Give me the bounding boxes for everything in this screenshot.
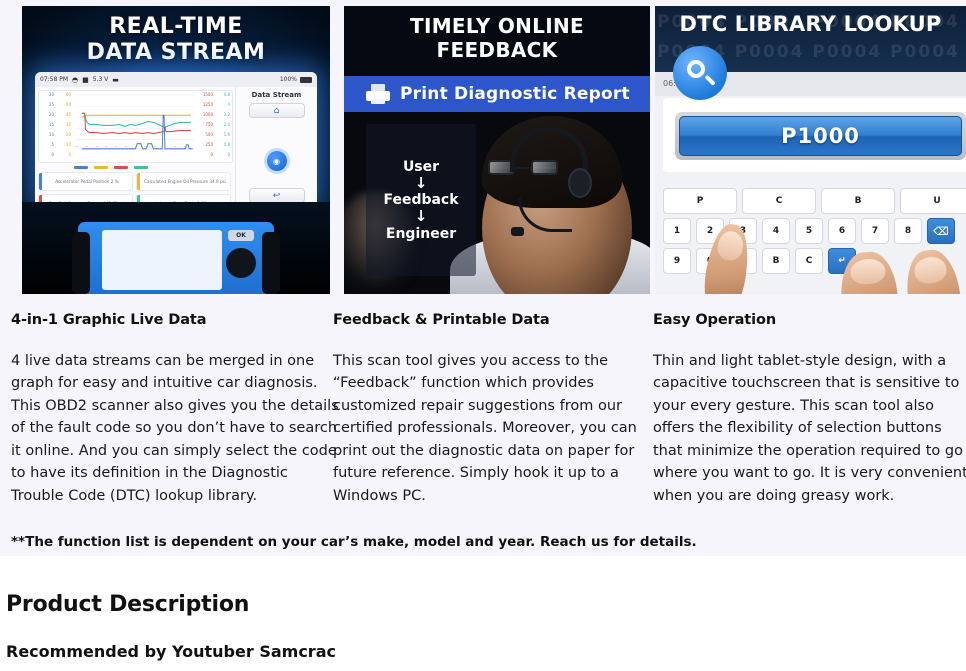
search-icon: [673, 46, 727, 100]
legend-swatch-2: [94, 166, 108, 169]
keyboard-row-digits-1: 1 2 3 4 5 6 7 8 ⌫: [663, 218, 966, 244]
feature-column-2: Feedback & Printable Data This scan tool…: [333, 312, 651, 507]
feature-image-panels: REAL-TIME DATA STREAM 07:58 PM ◓ ■ 5.3 V…: [12, 6, 966, 294]
key-1[interactable]: 1: [663, 218, 691, 244]
device-grip-right: [262, 232, 280, 294]
panel-2-title-line-1: TIMELY ONLINE: [344, 14, 650, 38]
product-description-subtitle: Recommended by Youtuber Samcrac: [6, 642, 336, 661]
device-ok-button[interactable]: OK: [228, 230, 254, 241]
feedback-flow-diagram: User ↓ Feedback ↓ Engineer: [366, 124, 476, 276]
support-agent-photo: User ↓ Feedback ↓ Engineer: [344, 112, 650, 294]
status-battery-percent: 100%: [280, 76, 297, 83]
tablet-chart-area: 30 25 20 15 10 5 0 60 50 4: [35, 87, 235, 207]
scanner-device-photo: OK: [22, 202, 330, 294]
feature-body-1: 4 live data streams can be merged in one…: [11, 350, 341, 507]
link-icon: ▬: [112, 76, 119, 84]
legend-swatch-1: [74, 166, 88, 169]
key-C[interactable]: C: [742, 188, 816, 214]
data-stream-title: Data Stream: [236, 91, 317, 99]
dtc-code-frame: P1000: [675, 112, 966, 160]
key-4[interactable]: 4: [762, 218, 790, 244]
keyboard-row-prefix: P C B U: [663, 188, 966, 214]
panel-1-title-line-1: REAL-TIME: [22, 14, 330, 40]
data-card[interactable]: Calculated Engine Oil Pressure 34.9 psi: [136, 172, 231, 191]
dtc-code-button[interactable]: P1000: [679, 116, 962, 156]
data-card-label: Accelerator Pedal Position 2 %: [42, 179, 132, 184]
feature-column-1: 4-in-1 Graphic Live Data 4 live data str…: [11, 312, 341, 507]
key-C2[interactable]: C: [795, 248, 823, 274]
status-time: 07:58 PM: [40, 76, 68, 83]
back-icon[interactable]: ↩: [249, 188, 305, 203]
camera-icon[interactable]: ◉: [267, 151, 287, 171]
feature-body-3: Thin and light tablet-style design, with…: [653, 350, 966, 507]
tablet-status-bar: 07:58 PM ◓ ■ 5.3 V ▬ 100%: [35, 72, 317, 87]
axis-right-primary: 1500 1250 1000 750 500 250 0: [198, 91, 215, 162]
device-body: OK: [78, 222, 274, 294]
wifi-icon: ◓: [72, 76, 78, 84]
flow-step-engineer: Engineer: [386, 226, 456, 242]
status-voltage: 5.3 V: [93, 76, 109, 83]
key-5[interactable]: 5: [795, 218, 823, 244]
chart-x-tick-labels: 00:05 00:10 00:15 00:20 00:25 00:30 00:3…: [75, 146, 192, 162]
print-diagnostic-report-bar: Print Diagnostic Report: [344, 76, 650, 112]
panel-1-title-line-2: DATA STREAM: [22, 40, 330, 66]
battery-icon: [300, 77, 312, 83]
feature-heading-2: Feedback & Printable Data: [333, 312, 651, 328]
product-description-title: Product Description: [6, 592, 249, 617]
printer-icon: [366, 84, 390, 104]
feature-heading-3: Easy Operation: [653, 312, 966, 328]
data-card[interactable]: Accelerator Pedal Position 2 %: [38, 172, 133, 191]
legend-swatch-4: [134, 166, 148, 169]
panel-dtc-library-lookup: P0004 P0004 P0004 P0004 P0004 P0003 P000…: [655, 6, 966, 294]
tablet-body: 30 25 20 15 10 5 0 60 50 4: [35, 87, 317, 207]
dtc-code-display-area: P1000: [663, 98, 966, 172]
panel-2-title: TIMELY ONLINE FEEDBACK: [344, 14, 650, 62]
flow-step-user: User: [403, 159, 439, 175]
device-grip-left: [72, 232, 90, 294]
key-U[interactable]: U: [900, 188, 966, 214]
obd-connector-icon: ■: [82, 76, 89, 84]
device-screen: [102, 230, 222, 290]
key-6[interactable]: 6: [828, 218, 856, 244]
feature-heading-1: 4-in-1 Graphic Live Data: [11, 312, 341, 328]
key-8[interactable]: 8: [894, 218, 922, 244]
key-7[interactable]: 7: [861, 218, 889, 244]
function-list-footnote: **The function list is dependent on your…: [11, 534, 955, 550]
flow-arrow-down-icon: ↓: [415, 210, 428, 224]
legend-swatch-3: [114, 166, 128, 169]
product-description-section: Product Description Recommended by Youtu…: [0, 556, 966, 671]
print-diagnostic-report-label: Print Diagnostic Report: [400, 84, 630, 104]
feature-body-2: This scan tool gives you access to the “…: [333, 350, 651, 507]
feature-text-columns: 4-in-1 Graphic Live Data 4 live data str…: [0, 312, 966, 524]
tablet-sidebar: Data Stream ⌂ ◉ ↩: [235, 87, 317, 207]
data-card-label: Calculated Engine Oil Pressure 34.9 psi: [140, 179, 230, 184]
feature-column-3: Easy Operation Thin and light tablet-sty…: [653, 312, 966, 507]
key-B2[interactable]: B: [762, 248, 790, 274]
home-icon[interactable]: ⌂: [249, 103, 305, 118]
axis-right-secondary: 4.8 4 3.2 2.4 1.6 0.8 0: [215, 91, 232, 162]
panel-1-title: REAL-TIME DATA STREAM: [22, 14, 330, 66]
panel-2-title-line-2: FEEDBACK: [344, 38, 650, 62]
backspace-icon[interactable]: ⌫: [927, 218, 955, 244]
headset-mic-tip: [511, 227, 524, 236]
panel-real-time-data-stream: REAL-TIME DATA STREAM 07:58 PM ◓ ■ 5.3 V…: [22, 6, 330, 294]
key-P[interactable]: P: [663, 188, 737, 214]
panel-timely-online-feedback: TIMELY ONLINE FEEDBACK Print Diagnostic …: [344, 6, 650, 294]
flow-step-feedback: Feedback: [383, 192, 458, 208]
headset-earcup: [568, 168, 592, 198]
key-9[interactable]: 9: [663, 248, 691, 274]
axis-left-secondary: 60 50 40 30 20 10 0: [56, 91, 73, 162]
axis-left-primary: 30 25 20 15 10 5 0: [39, 91, 56, 162]
key-B[interactable]: B: [821, 188, 895, 214]
live-data-chart: 30 25 20 15 10 5 0 60 50 4: [38, 90, 233, 163]
tablet-screenshot: 07:58 PM ◓ ■ 5.3 V ▬ 100% 30: [35, 72, 317, 207]
device-dpad[interactable]: [226, 248, 256, 278]
flow-arrow-down-icon: ↓: [415, 177, 428, 191]
feature-block: REAL-TIME DATA STREAM 07:58 PM ◓ ■ 5.3 V…: [0, 0, 966, 556]
panel-3-title: DTC LIBRARY LOOKUP: [655, 12, 966, 36]
